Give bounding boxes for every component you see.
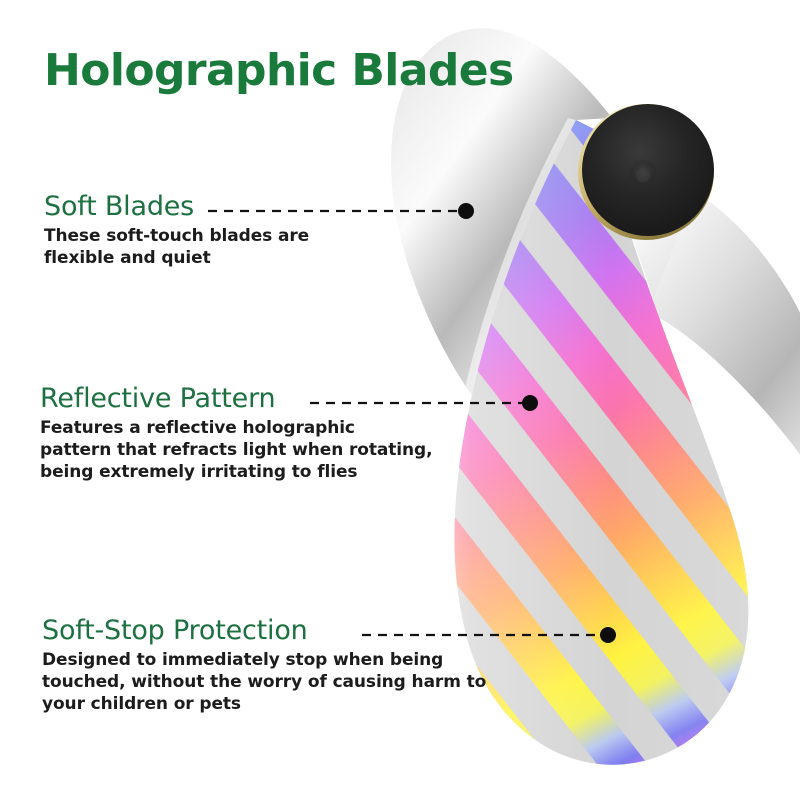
callout-body-line: your children or pets	[42, 694, 486, 716]
callout-body: Designed to immediately stop when being …	[42, 650, 486, 715]
callout-reflective-pattern: Reflective Pattern Features a reflective…	[40, 384, 432, 483]
callout-body-line: Designed to immediately stop when being	[42, 650, 486, 672]
leader-dot	[458, 203, 474, 219]
callout-body: Features a reflective holographic patter…	[40, 418, 432, 483]
callout-heading: Soft-Stop Protection	[42, 616, 486, 646]
callout-body-line: Features a reflective holographic	[40, 418, 432, 440]
callout-body-line: These soft-touch blades are	[44, 226, 309, 248]
callout-body-line: flexible and quiet	[44, 248, 309, 270]
callout-soft-blades: Soft Blades These soft-touch blades are …	[44, 192, 309, 270]
page-title: Holographic Blades	[44, 48, 514, 94]
callout-body-line: pattern that refracts light when rotatin…	[40, 440, 432, 462]
callout-body-line: touched, without the worry of causing ha…	[42, 672, 486, 694]
text-overlay: Holographic Blades Soft Blades These sof…	[0, 0, 800, 800]
leader-dot	[600, 627, 616, 643]
callout-body-line: being extremely irritating to flies	[40, 462, 432, 484]
callout-soft-stop-protection: Soft-Stop Protection Designed to immedia…	[42, 616, 486, 715]
callout-heading: Soft Blades	[44, 192, 309, 222]
callout-heading: Reflective Pattern	[40, 384, 432, 414]
callout-body: These soft-touch blades are flexible and…	[44, 226, 309, 270]
leader-dot	[522, 395, 538, 411]
infographic-canvas: Holographic Blades Soft Blades These sof…	[0, 0, 800, 800]
